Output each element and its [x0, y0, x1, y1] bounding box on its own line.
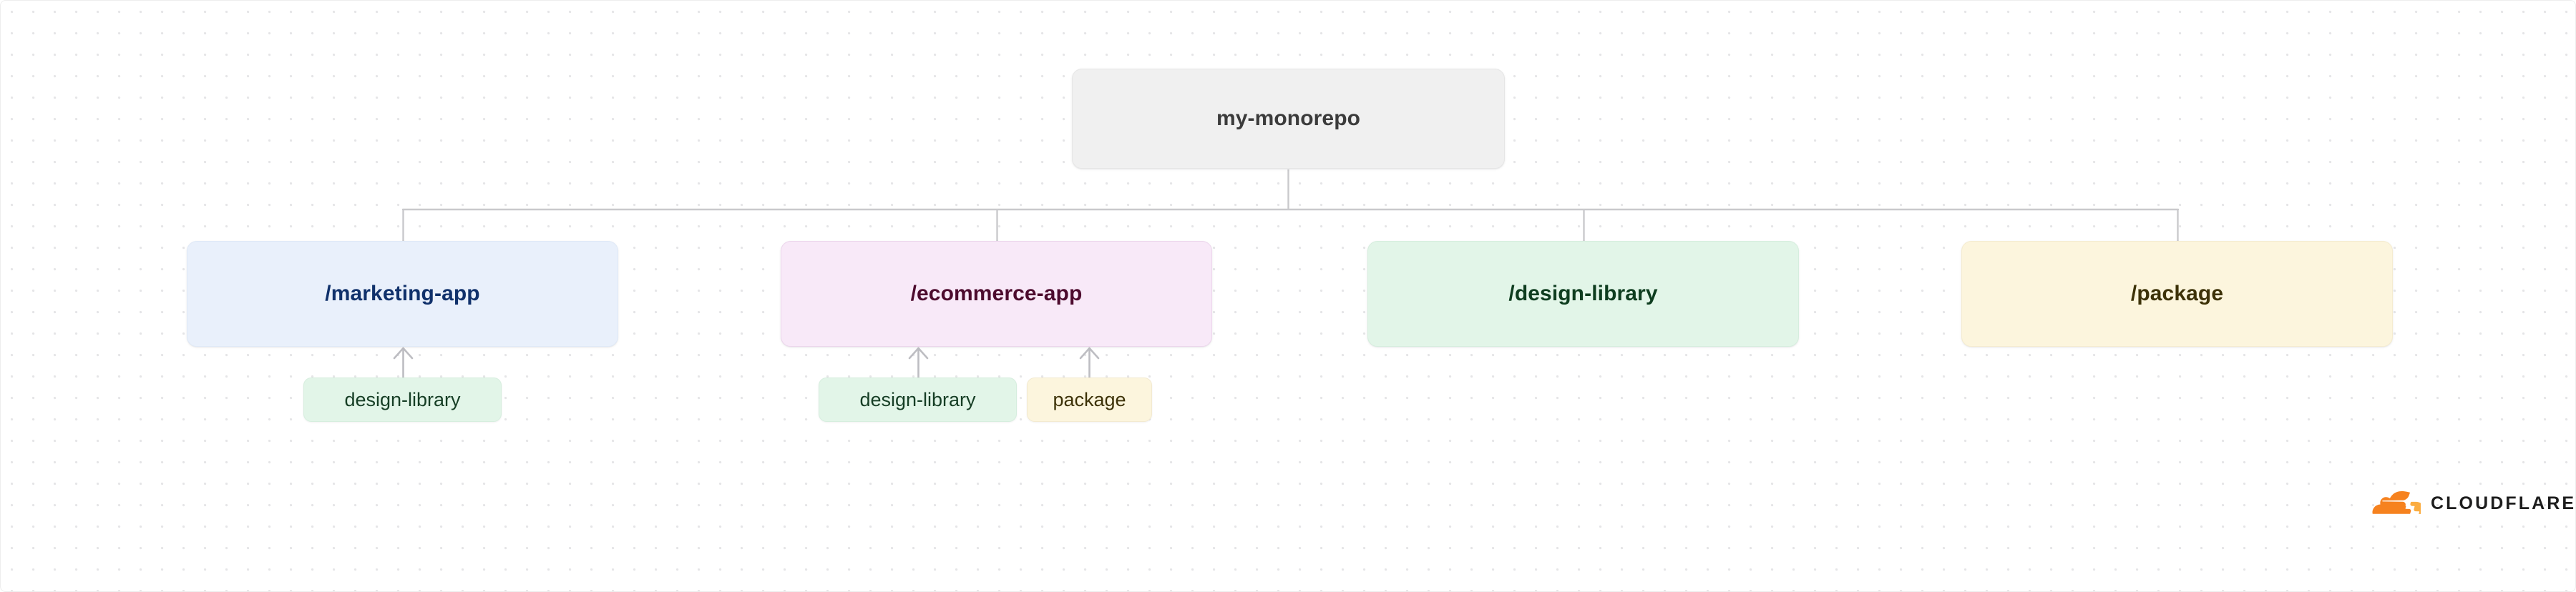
node-package[interactable]: /package: [1961, 241, 2393, 347]
cloudflare-logo: CLOUDFLARE: [2369, 491, 2576, 515]
dependency-pill-label: design-library: [859, 389, 975, 411]
dependency-pill-ecommerce-design-library[interactable]: design-library: [819, 378, 1017, 422]
node-design-library[interactable]: /design-library: [1367, 241, 1799, 347]
cloudflare-cloud-icon: [2369, 491, 2421, 515]
dependency-pill-label: design-library: [344, 389, 460, 411]
node-label: /design-library: [1508, 282, 1657, 306]
node-label: my-monorepo: [1216, 107, 1360, 131]
dependency-pill-ecommerce-package[interactable]: package: [1027, 378, 1152, 422]
node-marketing-app[interactable]: /marketing-app: [187, 241, 618, 347]
cloudflare-wordmark: CLOUDFLARE: [2431, 495, 2576, 513]
node-ecommerce-app[interactable]: /ecommerce-app: [781, 241, 1212, 347]
dependency-pill-marketing-design-library[interactable]: design-library: [303, 378, 502, 422]
dependency-pill-label: package: [1053, 389, 1126, 411]
node-label: /ecommerce-app: [911, 282, 1083, 306]
node-label: /marketing-app: [325, 282, 479, 306]
node-label: /package: [2131, 282, 2223, 306]
node-my-monorepo[interactable]: my-monorepo: [1072, 69, 1505, 169]
diagram-canvas: my-monorepo /marketing-app /ecommerce-ap…: [0, 0, 2576, 592]
